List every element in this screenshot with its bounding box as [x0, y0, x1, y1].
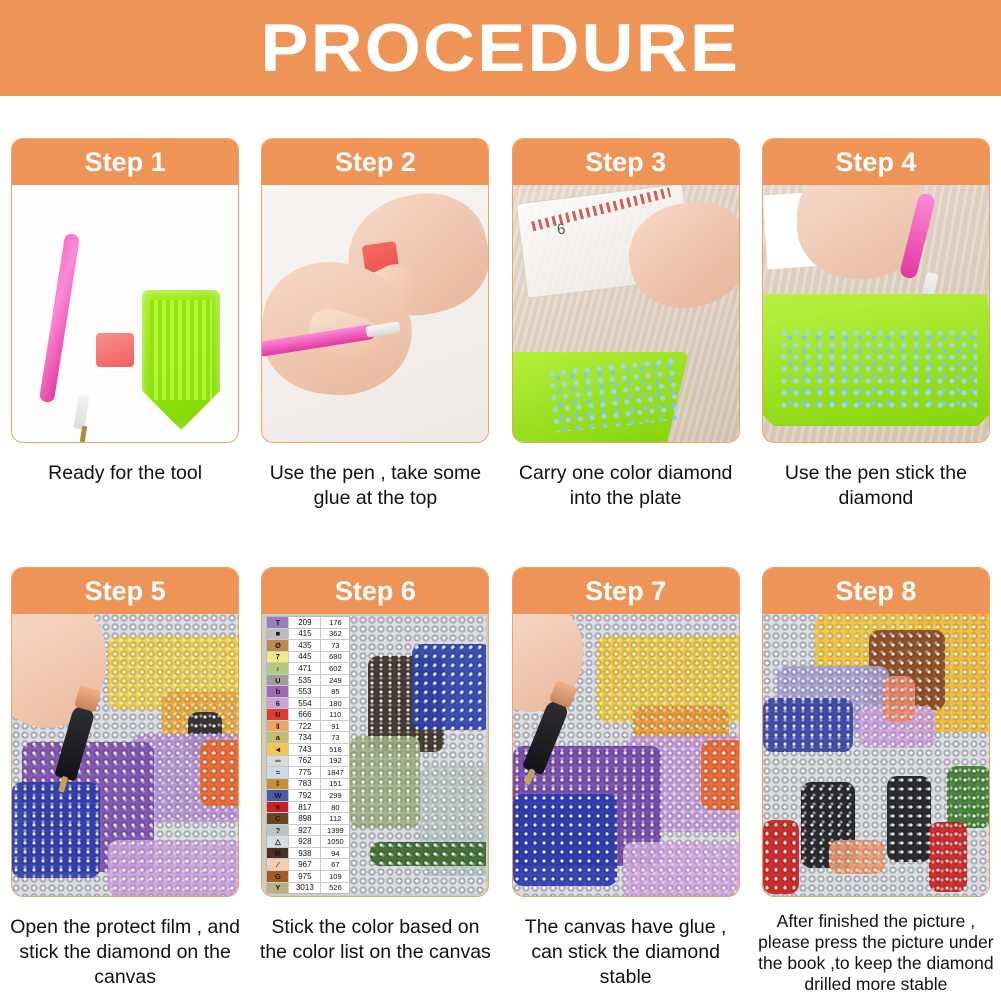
step-cell-4: Step 4 Use the pen stick the diamond [751, 138, 1001, 511]
color-chart-row: ?9271399 [267, 825, 349, 837]
step-card-5[interactable]: Step 5 [11, 567, 239, 897]
color-chart-row: ♪471602 [267, 663, 349, 675]
color-chart-symbol: ◄ [267, 744, 289, 755]
color-chart-code: 471 [289, 663, 321, 674]
step-image-8 [763, 614, 989, 896]
color-chart-row: U535249 [267, 675, 349, 687]
color-chart-symbol: C [267, 813, 289, 824]
step-image-4 [763, 185, 989, 442]
color-chart-count: 151 [321, 779, 349, 790]
mosaic-bead-overlay [350, 616, 486, 894]
step-cell-3: Step 3 6 Carry one color diamond into th… [501, 138, 751, 511]
color-chart-row: ≈7751847 [267, 767, 349, 779]
step-caption-3: Carry one color diamond into the plate [508, 461, 744, 511]
mosaic-bead-overlay [763, 614, 989, 896]
color-chart-row: T209176 [267, 617, 349, 629]
green-tray-icon [142, 290, 220, 430]
color-chart-row: G975109 [267, 871, 349, 883]
color-chart-row: ═762192 [267, 756, 349, 768]
color-chart-row: ‡783151 [267, 779, 349, 791]
color-chart-code: 535 [289, 675, 321, 686]
pen-tip-icon [74, 394, 90, 429]
mosaic-canvas-area [350, 616, 486, 894]
color-chart-count: 176 [321, 617, 349, 628]
color-chart-row: ✶81780 [267, 802, 349, 814]
step-card-1[interactable]: Step 1 [11, 138, 239, 443]
color-chart-row: W792299 [267, 790, 349, 802]
color-chart-symbol: ═ [267, 756, 289, 767]
color-chart-code: 762 [289, 756, 321, 767]
step-cell-5: Step 5 Open the protect film [0, 567, 250, 995]
color-chart-row: b55385 [267, 686, 349, 698]
color-chart-count: 180 [321, 698, 349, 709]
page-header-banner: PROCEDURE [0, 0, 1001, 96]
page-title: PROCEDURE [261, 14, 741, 82]
color-chart-count: 602 [321, 663, 349, 674]
step-caption-8: After finished the picture , please pres… [753, 911, 999, 995]
color-chart-symbol: ♪ [267, 663, 289, 674]
color-chart-code: 554 [289, 698, 321, 709]
step-header-label-4: Step 4 [835, 149, 916, 176]
step-header-label-3: Step 3 [585, 149, 666, 176]
color-chart-symbol: 6 [267, 698, 289, 709]
color-chart-count: 249 [321, 675, 349, 686]
color-chart-symbol: G [267, 871, 289, 882]
color-chart-row: a73473 [267, 732, 349, 744]
color-chart-symbol: ⌘ [267, 848, 289, 859]
color-chart-code: 975 [289, 871, 321, 882]
step-header-2: Step 2 [262, 139, 488, 185]
step-card-6[interactable]: Step 6 T209176■415362Ø435737445680♪47160… [261, 567, 489, 897]
color-chart-code: 209 [289, 617, 321, 628]
color-chart-code: 445 [289, 652, 321, 663]
color-chart-count: 362 [321, 629, 349, 640]
color-chart-code: 666 [289, 709, 321, 720]
color-chart-code: 938 [289, 848, 321, 859]
color-chart-row: △9281050 [267, 836, 349, 848]
step-cell-6: Step 6 T209176■415362Ø435737445680♪47160… [250, 567, 500, 995]
step-header-5: Step 5 [12, 568, 238, 614]
color-chart-symbol: ■ [267, 629, 289, 640]
color-code-chart: T209176■415362Ø435737445680♪471602U53524… [266, 616, 350, 894]
color-chart-symbol: 7 [267, 652, 289, 663]
color-chart-code: 415 [289, 629, 321, 640]
step-caption-4: Use the pen stick the diamond [758, 461, 994, 511]
step-caption-7: The canvas have glue , can stick the dia… [508, 915, 744, 990]
color-chart-count: 109 [321, 871, 349, 882]
color-chart-symbol: N [267, 709, 289, 720]
color-chart-count: 80 [321, 802, 349, 813]
color-chart-code: 898 [289, 813, 321, 824]
color-chart-code: 3013 [289, 883, 321, 894]
color-chart-symbol: ‖ [267, 721, 289, 732]
color-chart-symbol: b [267, 686, 289, 697]
color-chart-count: 73 [321, 640, 349, 651]
color-chart-row: N666110 [267, 709, 349, 721]
color-chart-count: 526 [321, 883, 349, 894]
step-caption-2: Use the pen , take some glue at the top [257, 461, 493, 511]
color-chart-code: 722 [289, 721, 321, 732]
step-image-5 [12, 614, 238, 896]
color-chart-symbol: T [267, 617, 289, 628]
color-chart-row: ◄743518 [267, 744, 349, 756]
step-header-label-6: Step 6 [335, 578, 416, 605]
step-cell-2: Step 2 Use the pen , take some glue at t… [250, 138, 500, 511]
color-chart-symbol: a [267, 732, 289, 743]
color-chart-row: 6554180 [267, 698, 349, 710]
color-chart-code: 783 [289, 779, 321, 790]
color-chart-symbol: ? [267, 825, 289, 836]
color-chart-count: 1399 [321, 825, 349, 836]
color-chart-row: Ø43573 [267, 640, 349, 652]
color-chart-code: 743 [289, 744, 321, 755]
color-chart-count: 94 [321, 848, 349, 859]
color-chart-row: 7445680 [267, 652, 349, 664]
step-header-7: Step 7 [513, 568, 739, 614]
color-chart-row: C898112 [267, 813, 349, 825]
step-image-3: 6 [513, 185, 739, 442]
steps-row-top: Step 1 Ready for the tool Step 2 [0, 138, 1001, 511]
step-card-4[interactable]: Step 4 [762, 138, 990, 443]
color-chart-code: 435 [289, 640, 321, 651]
color-chart-symbol: ⁄ [267, 859, 289, 870]
color-chart-code: 553 [289, 686, 321, 697]
step-cell-1: Step 1 Ready for the tool [0, 138, 250, 511]
step-cell-8: Step 8 [751, 567, 1001, 995]
step-caption-5: Open the protect film , and stick the di… [7, 915, 243, 990]
steps-row-bottom: Step 5 Open the protect film [0, 567, 1001, 995]
step-header-label-8: Step 8 [835, 578, 916, 605]
step-header-label-1: Step 1 [85, 149, 166, 176]
color-chart-symbol: Ø [267, 640, 289, 651]
step-header-4: Step 4 [763, 139, 989, 185]
step-header-label-5: Step 5 [85, 578, 166, 605]
color-chart-symbol: U [267, 675, 289, 686]
step-header-6: Step 6 [262, 568, 488, 614]
color-chart-symbol: W [267, 790, 289, 801]
step-card-2[interactable]: Step 2 [261, 138, 489, 443]
color-chart-code: 792 [289, 790, 321, 801]
step-image-2 [262, 185, 488, 442]
step-card-8[interactable]: Step 8 [762, 567, 990, 897]
color-chart-count: 299 [321, 790, 349, 801]
step-header-label-7: Step 7 [585, 578, 666, 605]
pen-nib-icon [80, 426, 87, 442]
step-image-1 [12, 185, 238, 442]
step-header-3: Step 3 [513, 139, 739, 185]
bag-label-text: 6 [556, 221, 566, 239]
pink-pen-icon [39, 233, 80, 403]
step-caption-6: Stick the color based on the color list … [257, 915, 493, 965]
color-chart-code: 775 [289, 767, 321, 778]
color-chart-count: 1847 [321, 767, 349, 778]
color-chart-count: 85 [321, 686, 349, 697]
color-chart-count: 110 [321, 709, 349, 720]
color-chart-count: 1050 [321, 836, 349, 847]
color-chart-code: 817 [289, 802, 321, 813]
color-chart-row: ⌘93894 [267, 848, 349, 860]
glue-square-icon [96, 333, 134, 367]
color-chart-row: ⁄96767 [267, 859, 349, 871]
step-header-label-2: Step 2 [335, 149, 416, 176]
color-chart-count: 518 [321, 744, 349, 755]
step-image-7 [513, 614, 739, 896]
procedure-infographic: PROCEDURE Step 1 Ready for the tool [0, 0, 1001, 1001]
color-chart-count: 112 [321, 813, 349, 824]
step-header-8: Step 8 [763, 568, 989, 614]
color-chart-code: 927 [289, 825, 321, 836]
color-chart-count: 680 [321, 652, 349, 663]
step-cell-7: Step 7 The canvas have glue , can stick [501, 567, 751, 995]
color-chart-symbol: △ [267, 836, 289, 847]
step-card-3[interactable]: Step 3 6 [512, 138, 740, 443]
color-chart-code: 967 [289, 859, 321, 870]
diamond-beads-icon [781, 330, 977, 408]
step-header-1: Step 1 [12, 139, 238, 185]
color-chart-symbol: ‡ [267, 779, 289, 790]
step-image-6: T209176■415362Ø435737445680♪471602U53524… [262, 614, 488, 896]
step-card-7[interactable]: Step 7 [512, 567, 740, 897]
color-chart-count: 67 [321, 859, 349, 870]
color-chart-code: 928 [289, 836, 321, 847]
color-chart-code: 734 [289, 732, 321, 743]
color-chart-count: 91 [321, 721, 349, 732]
color-chart-count: 192 [321, 756, 349, 767]
step-caption-1: Ready for the tool [7, 461, 243, 486]
color-chart-symbol: ✶ [267, 802, 289, 813]
color-chart-row: ■415362 [267, 629, 349, 641]
color-chart-row: ‖72291 [267, 721, 349, 733]
color-chart-symbol: Y [267, 883, 289, 894]
color-chart-count: 73 [321, 732, 349, 743]
color-chart-row: Y3013526 [267, 883, 349, 894]
color-chart-symbol: ≈ [267, 767, 289, 778]
